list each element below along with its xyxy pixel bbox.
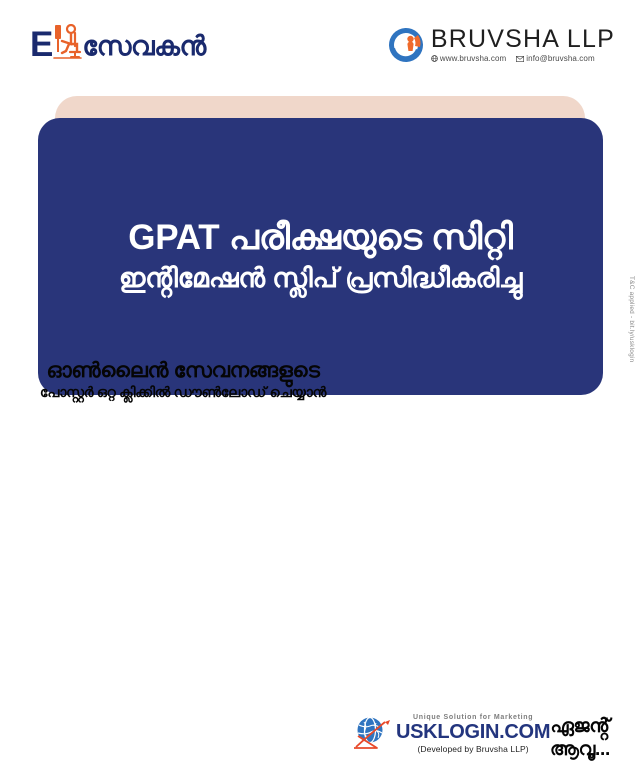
esevakan-letter-e: E	[30, 30, 52, 60]
globe-arrow-icon	[352, 714, 392, 754]
bruvsha-website-text: www.bruvsha.com	[440, 54, 506, 63]
footer-left-line-2: പോസ്റ്റർ ഒറ്റ ക്ലിക്കിൽ ഡൗൺലോഡ് ചെയ്യാൻ	[18, 384, 348, 402]
page-header: E സേവകൻ	[0, 0, 639, 88]
page-footer: ഓൺലൈൻ സേവനങ്ങളുടെ പോസ്റ്റർ ഒറ്റ ക്ലിക്കി…	[0, 352, 639, 426]
usklogin-logo[interactable]: Unique Solution for Marketing USKLOGIN.C…	[352, 714, 550, 754]
usklogin-developed-by: (Developed by Bruvsha LLP)	[417, 744, 528, 754]
usklogin-tagline: Unique Solution for Marketing	[413, 714, 533, 721]
bruvsha-people-mark-icon	[388, 27, 424, 63]
footer-right-line-1: ഏജൻ്റ്	[528, 716, 632, 739]
hero-section: GPAT പരീക്ഷയുടെ സിറ്റി ഇൻ്റിമേഷൻ സ്ലിപ് …	[0, 88, 639, 338]
footer-right-text: ഏജൻ്റ് ആവൂ...	[528, 716, 632, 762]
globe-icon	[431, 55, 438, 62]
esevakan-logo: E സേവകൻ	[30, 24, 206, 60]
footer-left-text: ഓൺലൈൻ സേവനങ്ങളുടെ പോസ്റ്റർ ഒറ്റ ക്ലിക്കി…	[18, 358, 348, 402]
envelope-icon	[516, 56, 524, 62]
bruvsha-brand-name: BRUVSHA LLP	[431, 26, 615, 52]
bruvsha-contact-line: www.bruvsha.com info@bruvsha.com	[431, 54, 615, 63]
bruvsha-website: www.bruvsha.com	[431, 54, 506, 63]
bruvsha-email-text: info@bruvsha.com	[526, 54, 594, 63]
person-at-computer-icon	[53, 24, 83, 60]
side-credit-text: T&C applied - bit.ly/usklogin	[628, 276, 635, 362]
footer-left-line-1: ഓൺലൈൻ സേവനങ്ങളുടെ	[18, 358, 348, 383]
esevakan-wordmark: സേവകൻ	[82, 33, 205, 60]
headline-line-1: GPAT പരീക്ഷയുടെ സിറ്റി	[128, 217, 513, 260]
headline-line-2: ഇൻ്റിമേഷൻ സ്ലിപ് പ്രസിദ്ധീകരിച്ചു	[119, 262, 522, 296]
bruvsha-logo: BRUVSHA LLP www.bruvsha.com info@bruv	[388, 26, 615, 63]
footer-right-line-2: ആവൂ...	[528, 739, 632, 762]
bruvsha-email: info@bruvsha.com	[516, 54, 594, 63]
